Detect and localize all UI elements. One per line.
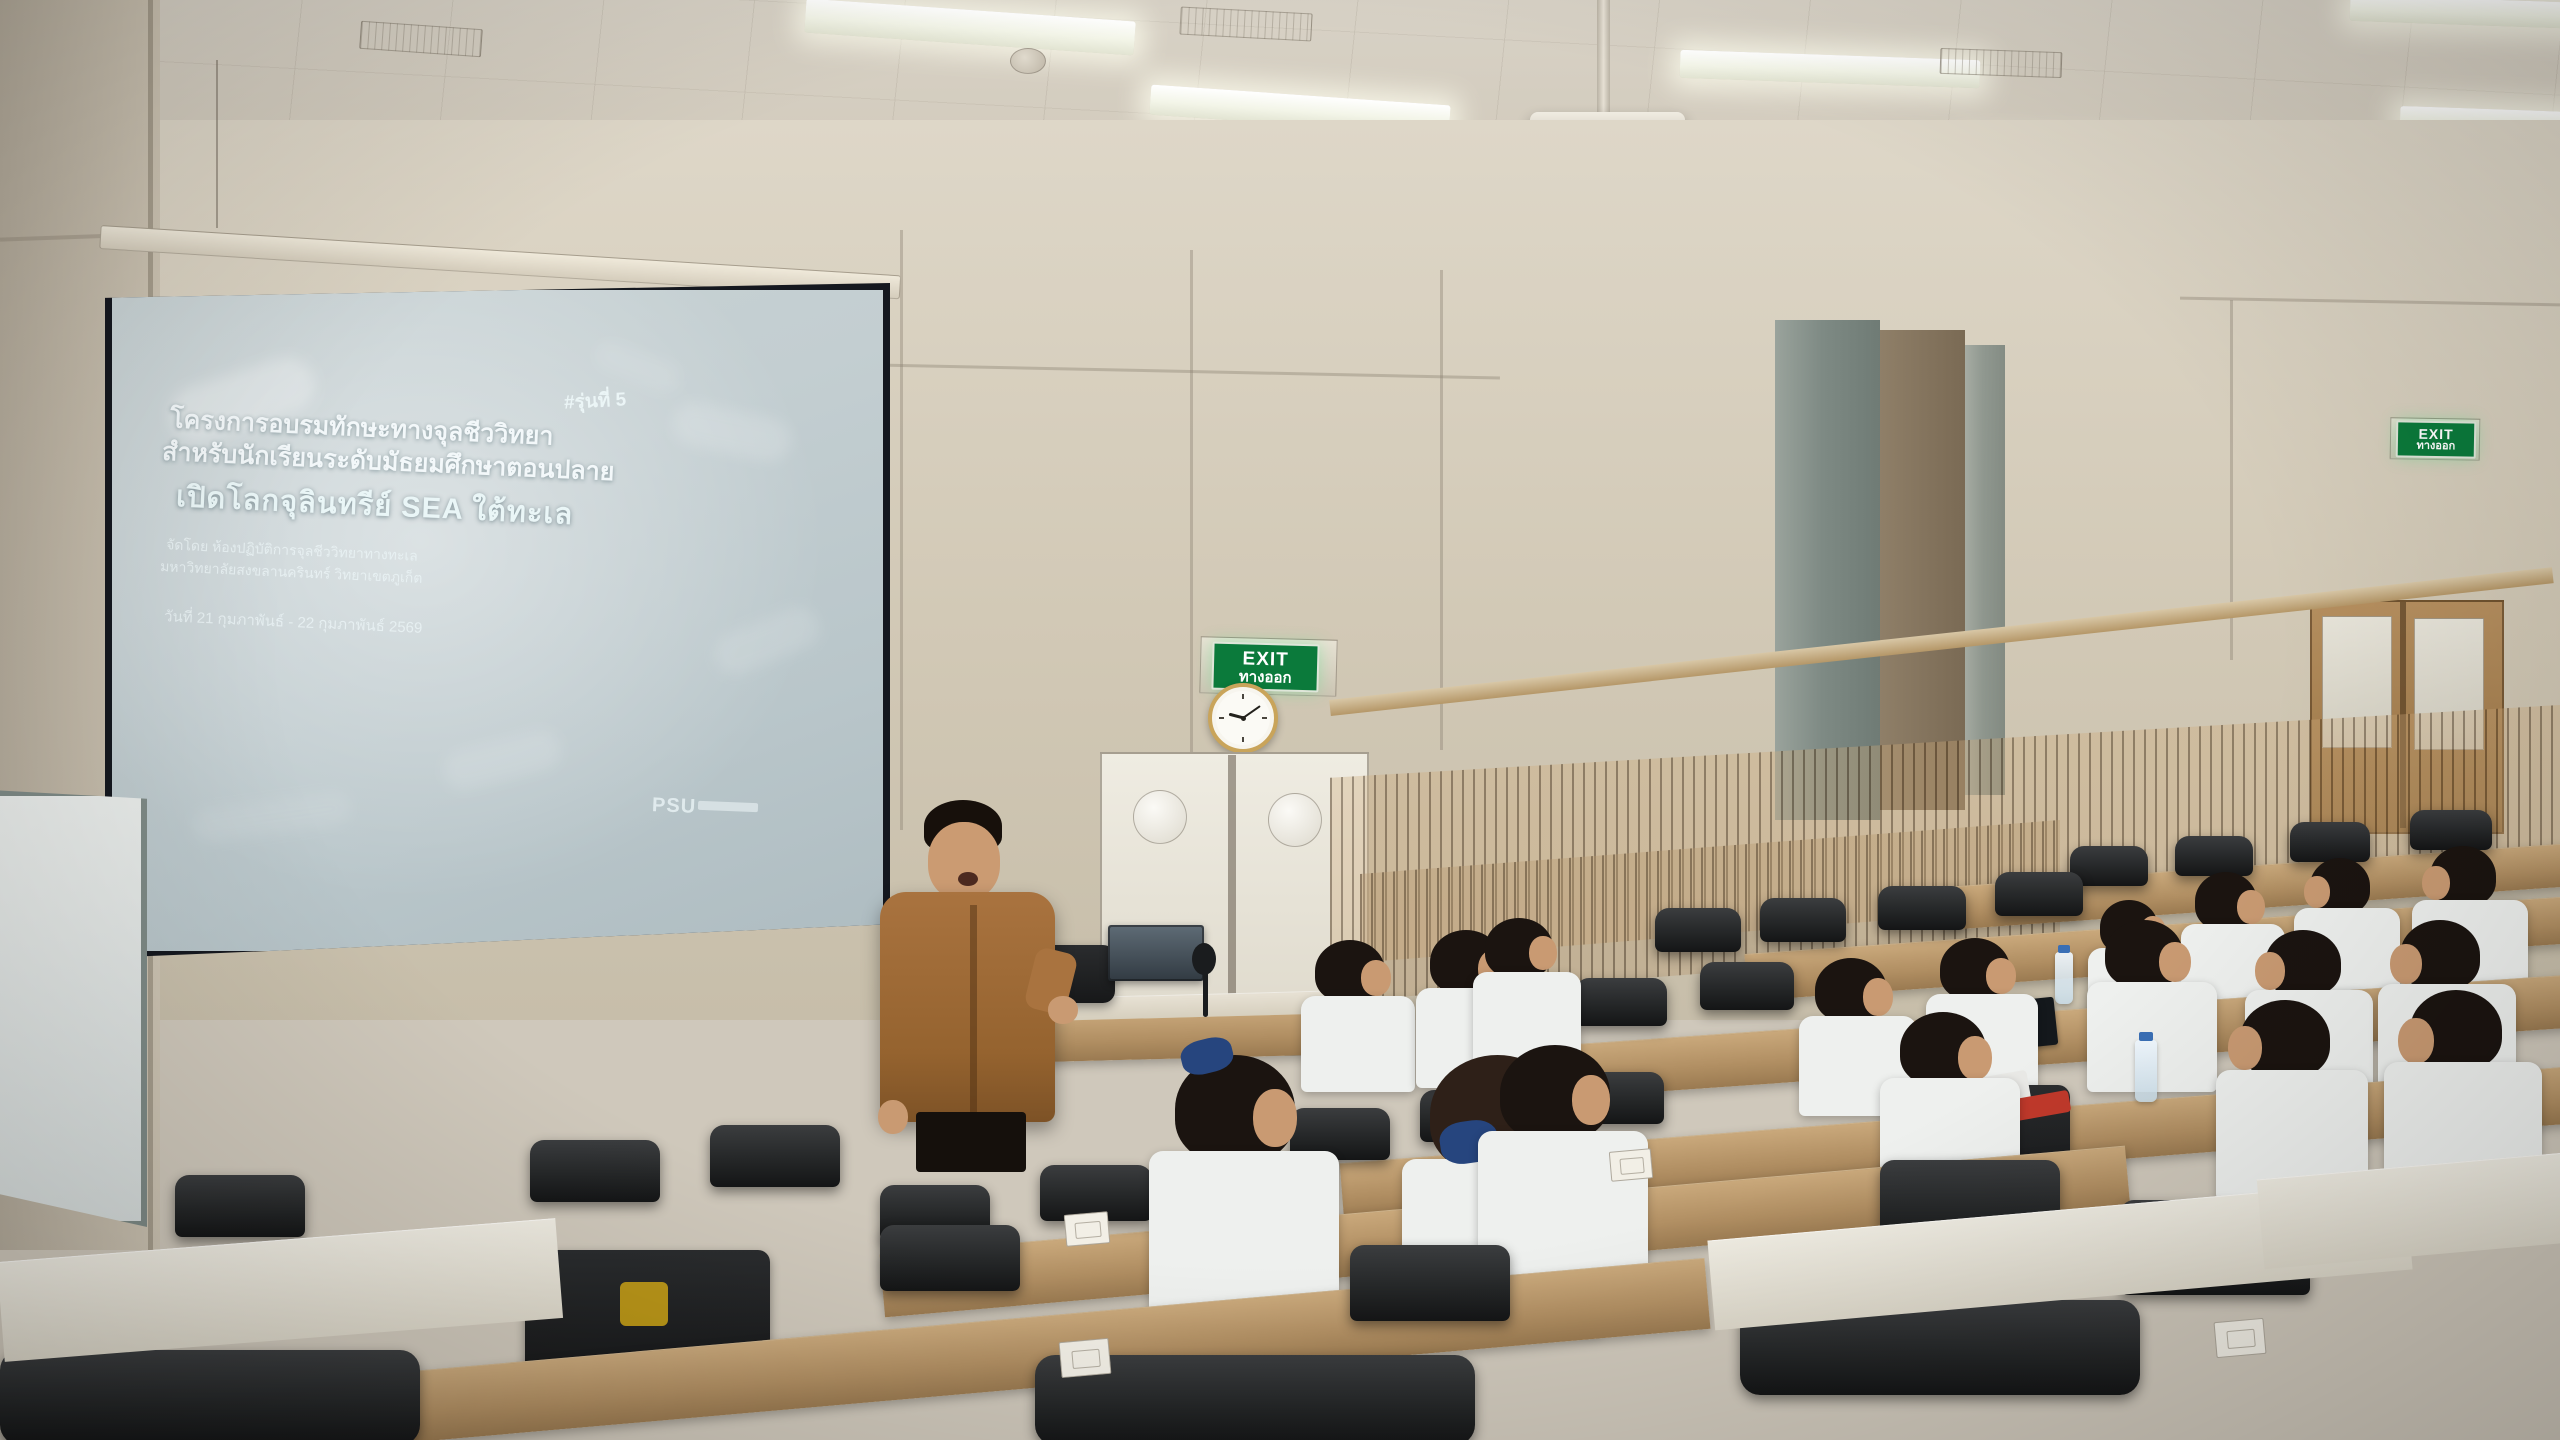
- student-face: [1863, 978, 1893, 1016]
- clock-face: [1216, 691, 1270, 745]
- student-face: [2255, 952, 2285, 990]
- whiteboard[interactable]: [0, 790, 147, 1227]
- presenter-hand: [878, 1100, 908, 1134]
- microbe-blob-icon: [708, 601, 826, 681]
- chair[interactable]: [880, 1225, 1020, 1291]
- chair[interactable]: [1700, 962, 1794, 1010]
- power-outlet[interactable]: [1059, 1338, 1112, 1378]
- water-bottle: [2055, 952, 2073, 1004]
- chair[interactable]: [1878, 886, 1966, 930]
- chair[interactable]: [710, 1125, 840, 1187]
- student-face: [2159, 942, 2191, 982]
- student-face: [2422, 866, 2450, 900]
- student-face: [1958, 1036, 1992, 1080]
- microbe-blob-icon: [439, 726, 565, 794]
- clock-tick: [1219, 717, 1224, 719]
- student-face: [1361, 960, 1391, 996]
- clock-center-pin: [1241, 716, 1246, 721]
- presentation-slide: #รุ่นที่ 5 โครงการอบรมทักษะทางจุลชีววิทย…: [112, 290, 883, 951]
- ceiling-speaker: [1010, 48, 1046, 74]
- exit-sign-secondary[interactable]: EXIT ทางออก: [2396, 420, 2477, 458]
- microbe-blob-icon: [190, 789, 353, 845]
- slide-logo: PSU: [652, 794, 697, 819]
- wall-pilaster: [1775, 320, 1880, 820]
- presenter-mouth: [958, 872, 978, 886]
- power-outlet[interactable]: [1609, 1148, 1653, 1182]
- wall-seam: [900, 230, 903, 830]
- projection-screen[interactable]: #รุ่นที่ 5 โครงการอบรมทักษะทางจุลชีววิทย…: [105, 283, 890, 958]
- chair[interactable]: [2410, 810, 2492, 850]
- wall-seam: [1190, 250, 1193, 780]
- clock-tick: [1242, 737, 1244, 742]
- door-window-right: [1268, 793, 1322, 847]
- projector-mount-pole: [1597, 0, 1610, 112]
- student-face: [1572, 1075, 1610, 1125]
- presenter-shirt-placket: [970, 905, 977, 1115]
- chair[interactable]: [2175, 836, 2253, 876]
- exit-sign-thai-label: ทางออก: [2416, 441, 2455, 453]
- slide-date-line: วันที่ 21 กุมภาพันธ์ - 22 กุมภาพันธ์ 256…: [164, 604, 423, 640]
- clock-tick: [1262, 717, 1267, 719]
- student-face: [2237, 890, 2265, 924]
- microbe-blob-icon: [669, 398, 796, 466]
- power-outlet[interactable]: [2214, 1318, 2267, 1358]
- chair[interactable]: [0, 1350, 420, 1440]
- clock-tick: [1242, 694, 1244, 699]
- student-face: [1253, 1089, 1297, 1147]
- exit-sign-primary[interactable]: EXIT ทางออก: [1211, 642, 1319, 693]
- student-face: [2304, 876, 2330, 908]
- student-shirt: [1149, 1151, 1339, 1316]
- student-face: [1986, 958, 2016, 994]
- lecture-hall-photo: EXIT ทางออก EXIT ทางออก: [0, 0, 2560, 1440]
- chair[interactable]: [2290, 822, 2370, 862]
- chair[interactable]: [1760, 898, 1846, 942]
- chair[interactable]: [1995, 872, 2083, 916]
- presenter-shirt: [880, 892, 1055, 1122]
- backpack-logo-patch: [620, 1282, 668, 1326]
- chair[interactable]: [530, 1140, 660, 1202]
- microphone-head: [1192, 943, 1216, 975]
- bottle-cap: [2058, 945, 2070, 953]
- wall-seam: [1440, 270, 1443, 750]
- chair[interactable]: [1575, 978, 1667, 1026]
- exit-sign-english-label: EXIT: [1242, 649, 1289, 669]
- chair[interactable]: [1655, 908, 1741, 952]
- student-face: [1529, 936, 1557, 970]
- laptop-on-lectern[interactable]: [1108, 925, 1204, 981]
- chair[interactable]: [175, 1175, 305, 1237]
- door-window-left: [1133, 790, 1187, 844]
- student-shirt: [1301, 996, 1415, 1092]
- presenter-hand: [1048, 996, 1078, 1024]
- student-face: [2228, 1026, 2262, 1070]
- slide-logo-bar: [698, 801, 758, 813]
- wall-pilaster: [1965, 345, 2005, 795]
- student-face: [2398, 1018, 2434, 1064]
- presenter-trousers: [916, 1112, 1026, 1172]
- bottle-cap: [2139, 1032, 2153, 1041]
- slide-batch-badge: #รุ่นที่ 5: [563, 384, 627, 417]
- wall-pilaster: [1880, 330, 1965, 810]
- chair[interactable]: [1350, 1245, 1510, 1321]
- screen-hanger-wire: [216, 60, 218, 228]
- air-vent: [1940, 48, 2063, 78]
- water-bottle: [2135, 1040, 2157, 1102]
- presenter-head: [928, 822, 1000, 900]
- laptop-screen: [1110, 927, 1202, 979]
- power-outlet[interactable]: [1064, 1211, 1111, 1247]
- projection-screen-surface: #รุ่นที่ 5 โครงการอบรมทักษะทางจุลชีววิทย…: [112, 290, 883, 951]
- wall-clock: [1208, 683, 1278, 753]
- student-face: [2390, 944, 2422, 984]
